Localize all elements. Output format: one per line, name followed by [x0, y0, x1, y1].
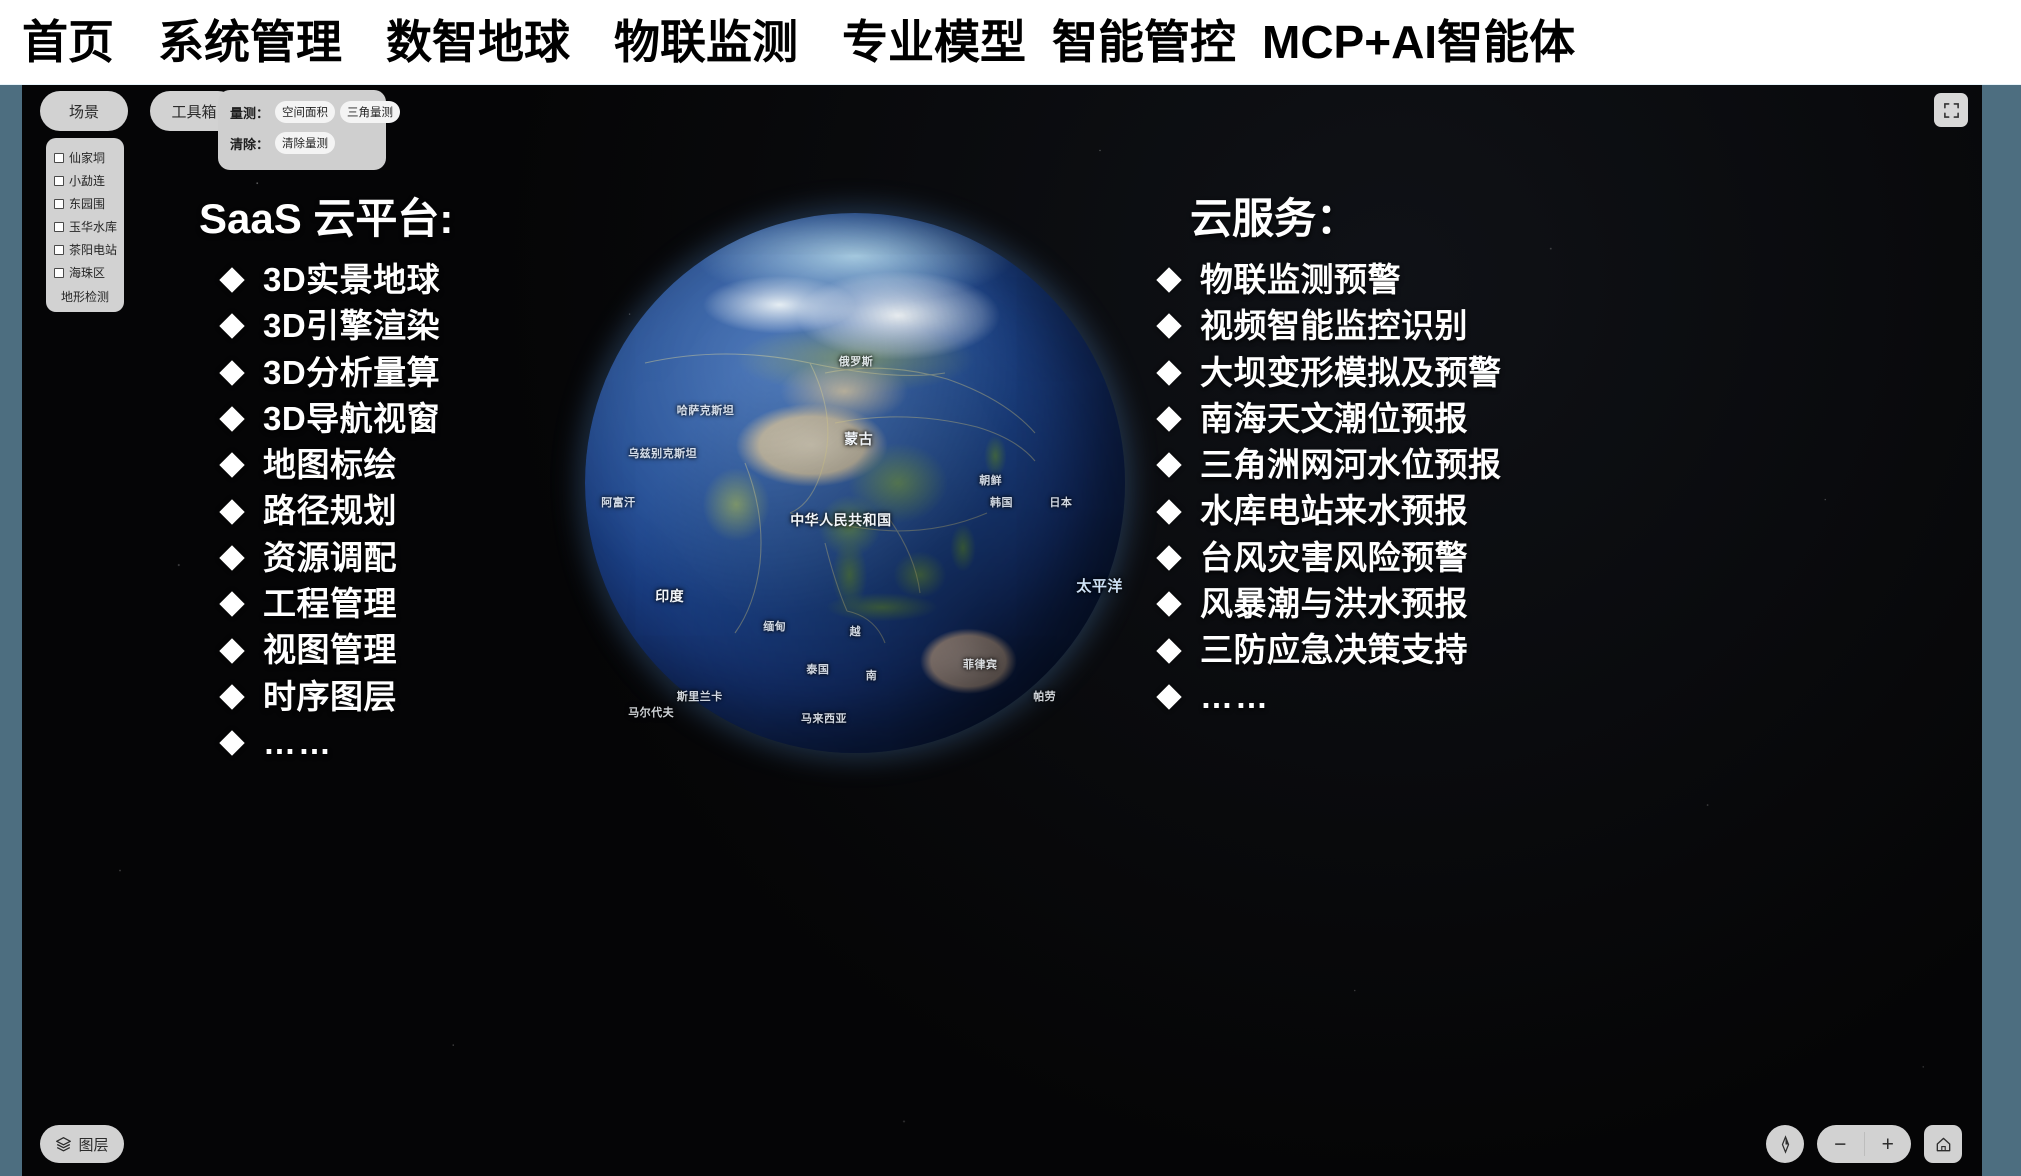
nav-item-system-admin[interactable]: 系统管理 [158, 19, 342, 65]
scene-item-label: 小勐连 [69, 172, 105, 189]
top-navigation-bar: 首页 系统管理 数智地球 物联监测 专业模型 智能管控 MCP+AI智能体 [0, 0, 2021, 85]
saas-feature-item-label: …… [263, 725, 333, 761]
app-root: 首页 系统管理 数智地球 物联监测 专业模型 智能管控 MCP+AI智能体 [0, 0, 2021, 1176]
map-controls-group: − + [1766, 1125, 1962, 1163]
scene-list-item[interactable]: 玉华水库 [52, 215, 118, 238]
saas-feature-item-label: 3D分析量算 [263, 355, 440, 391]
diamond-bullet-icon [219, 638, 244, 663]
cloud-service-item[interactable]: 三角洲网河水位预报 [1142, 447, 1682, 483]
zoom-control-group: − + [1817, 1125, 1911, 1163]
saas-feature-item[interactable]: 工程管理 [177, 586, 607, 622]
scene-list-item[interactable]: 仙家垌 [52, 146, 118, 169]
cloud-service-item-label: 风暴潮与洪水预报 [1200, 586, 1468, 622]
diamond-bullet-icon [219, 406, 244, 431]
scene-list-item[interactable]: 东园围 [52, 192, 118, 215]
layers-button[interactable]: 图层 [40, 1125, 124, 1163]
scene-item-label: 海珠区 [69, 264, 105, 281]
diamond-bullet-icon [219, 499, 244, 524]
scene-list-item[interactable]: 茶阳电站 [52, 238, 118, 261]
measure-row-label: 量测： [230, 103, 269, 122]
scene-item-label: 玉华水库 [69, 218, 117, 235]
measure-triangle-chip[interactable]: 三角量测 [340, 101, 400, 123]
checkbox-icon[interactable] [54, 245, 64, 255]
cloud-service-item-label: 视频智能监控识别 [1200, 308, 1468, 344]
scene-item-label: 茶阳电站 [69, 241, 117, 258]
saas-feature-item[interactable]: 3D实景地球 [177, 262, 607, 298]
checkbox-icon[interactable] [54, 222, 64, 232]
saas-feature-item-label: 路径规划 [263, 493, 397, 529]
diamond-bullet-icon [1156, 453, 1181, 478]
saas-feature-item-label: 3D导航视窗 [263, 401, 440, 437]
diamond-bullet-icon [1156, 267, 1181, 292]
cloud-service-item-label: …… [1200, 679, 1270, 715]
toolbox-clear-row: 清除： 清除量测 [230, 132, 376, 154]
cloud-service-item[interactable]: …… [1142, 679, 1682, 715]
saas-feature-item-label: 工程管理 [263, 586, 397, 622]
cloud-service-item[interactable]: 台风灾害风险预警 [1142, 540, 1682, 576]
diamond-bullet-icon [219, 314, 244, 339]
saas-feature-item-label: 地图标绘 [263, 447, 397, 483]
cloud-service-item[interactable]: 风暴潮与洪水预报 [1142, 586, 1682, 622]
cloud-service-item[interactable]: 物联监测预警 [1142, 262, 1682, 298]
nav-item-pro-model[interactable]: 专业模型 [842, 19, 1026, 65]
scene-item-label: 仙家垌 [69, 149, 105, 166]
saas-feature-list: 3D实景地球3D引擎渲染3D分析量算3D导航视窗地图标绘路径规划资源调配工程管理… [177, 262, 607, 761]
toolbox-panel: 量测： 空间面积 三角量测 清除： 清除量测 [218, 90, 386, 170]
diamond-bullet-icon [1156, 638, 1181, 663]
globe-scene-viewport[interactable]: 俄罗斯哈萨克斯坦乌兹别克斯坦阿富汗蒙古朝鲜韩国日本中华人民共和国印度缅甸泰国越南… [22, 85, 1982, 1176]
cloud-service-item[interactable]: 南海天文潮位预报 [1142, 401, 1682, 437]
diamond-bullet-icon [219, 267, 244, 292]
diamond-bullet-icon [219, 591, 244, 616]
saas-platform-column: SaaS 云平台: 3D实景地球3D引擎渲染3D分析量算3D导航视窗地图标绘路径… [177, 185, 607, 771]
zoom-out-button[interactable]: − [1817, 1125, 1864, 1163]
cloud-service-item-label: 南海天文潮位预报 [1200, 401, 1468, 437]
nav-item-digital-earth[interactable]: 数智地球 [386, 19, 570, 65]
scene-button[interactable]: 场景 [40, 91, 128, 131]
checkbox-icon[interactable] [54, 176, 64, 186]
cloud-service-item[interactable]: 三防应急决策支持 [1142, 632, 1682, 668]
home-icon [1934, 1135, 1953, 1154]
checkbox-icon[interactable] [54, 268, 64, 278]
saas-feature-item[interactable]: 3D引擎渲染 [177, 308, 607, 344]
diamond-bullet-icon [1156, 406, 1181, 431]
checkbox-icon[interactable] [54, 153, 64, 163]
diamond-bullet-icon [219, 360, 244, 385]
saas-feature-item-label: 3D引擎渲染 [263, 308, 440, 344]
fullscreen-icon [1943, 102, 1960, 119]
cloud-service-item-label: 三防应急决策支持 [1200, 632, 1468, 668]
clear-row-label: 清除： [230, 134, 269, 153]
saas-feature-item-label: 资源调配 [263, 540, 397, 576]
scene-list-item[interactable]: 海珠区 [52, 261, 118, 284]
diamond-bullet-icon [1156, 684, 1181, 709]
fullscreen-button[interactable] [1934, 93, 1968, 127]
saas-feature-item-label: 3D实景地球 [263, 262, 440, 298]
saas-feature-item[interactable]: 地图标绘 [177, 447, 607, 483]
terrain-detection-button[interactable]: 地形检测 [52, 284, 118, 305]
cloud-column-heading: 云服务： [1190, 185, 1682, 246]
layers-icon [55, 1136, 72, 1153]
diamond-bullet-icon [219, 453, 244, 478]
home-view-button[interactable] [1924, 1125, 1962, 1163]
saas-feature-item[interactable]: 3D导航视窗 [177, 401, 607, 437]
scene-list-item[interactable]: 小勐连 [52, 169, 118, 192]
cloud-service-item-label: 物联监测预警 [1200, 262, 1401, 298]
scene-button-label: 场景 [69, 101, 99, 122]
toolbox-measure-row: 量测： 空间面积 三角量测 [230, 101, 376, 123]
diamond-bullet-icon [1156, 360, 1181, 385]
cloud-service-item-label: 台风灾害风险预警 [1200, 540, 1468, 576]
measure-area-chip[interactable]: 空间面积 [275, 101, 335, 123]
diamond-bullet-icon [1156, 314, 1181, 339]
nav-item-smart-control[interactable]: 智能管控 [1052, 19, 1236, 65]
saas-feature-item[interactable]: 路径规划 [177, 493, 607, 529]
diamond-bullet-icon [219, 730, 244, 755]
saas-feature-item[interactable]: …… [177, 725, 607, 761]
scene-item-label: 东园围 [69, 195, 105, 212]
zoom-in-button[interactable]: + [1865, 1125, 1912, 1163]
cloud-service-column: 云服务： 物联监测预警视频智能监控识别大坝变形模拟及预警南海天文潮位预报三角洲网… [1142, 185, 1682, 725]
nav-item-mcp-ai-agent[interactable]: MCP+AI智能体 [1262, 19, 1575, 65]
saas-feature-item[interactable]: 时序图层 [177, 679, 607, 715]
saas-feature-item-label: 视图管理 [263, 632, 397, 668]
cloud-service-item[interactable]: 大坝变形模拟及预警 [1142, 355, 1682, 391]
earth-globe[interactable]: 俄罗斯哈萨克斯坦乌兹别克斯坦阿富汗蒙古朝鲜韩国日本中华人民共和国印度缅甸泰国越南… [585, 213, 1125, 753]
diamond-bullet-icon [1156, 591, 1181, 616]
earth-sphere [585, 213, 1125, 753]
diamond-bullet-icon [219, 684, 244, 709]
nav-item-iot-monitor[interactable]: 物联监测 [614, 19, 798, 65]
scene-list-panel: 仙家垌 小勐连 东园围 玉华水库 茶阳电站 海珠区 地形检测 [46, 138, 124, 312]
cloud-service-item[interactable]: 水库电站来水预报 [1142, 493, 1682, 529]
cloud-service-item-label: 三角洲网河水位预报 [1200, 447, 1502, 483]
saas-feature-item[interactable]: 视图管理 [177, 632, 607, 668]
layers-button-label: 图层 [78, 1134, 108, 1155]
compass-needle-icon [1776, 1135, 1795, 1154]
saas-feature-item[interactable]: 3D分析量算 [177, 355, 607, 391]
clear-measure-chip[interactable]: 清除量测 [275, 132, 335, 154]
compass-button[interactable] [1766, 1125, 1804, 1163]
diamond-bullet-icon [1156, 545, 1181, 570]
cloud-service-item[interactable]: 视频智能监控识别 [1142, 308, 1682, 344]
geo-label: 马尔代夫 [628, 704, 674, 720]
diamond-bullet-icon [219, 545, 244, 570]
saas-feature-item[interactable]: 资源调配 [177, 540, 607, 576]
checkbox-icon[interactable] [54, 199, 64, 209]
geo-label: 帕劳 [1033, 688, 1056, 704]
cloud-service-item-label: 水库电站来水预报 [1200, 493, 1468, 529]
cloud-service-item-label: 大坝变形模拟及预警 [1200, 355, 1502, 391]
nav-item-home[interactable]: 首页 [22, 19, 114, 65]
saas-feature-item-label: 时序图层 [263, 679, 397, 715]
cloud-service-list: 物联监测预警视频智能监控识别大坝变形模拟及预警南海天文潮位预报三角洲网河水位预报… [1142, 262, 1682, 715]
saas-column-heading: SaaS 云平台: [199, 185, 607, 246]
toolbox-button-label: 工具箱 [171, 101, 216, 122]
diamond-bullet-icon [1156, 499, 1181, 524]
